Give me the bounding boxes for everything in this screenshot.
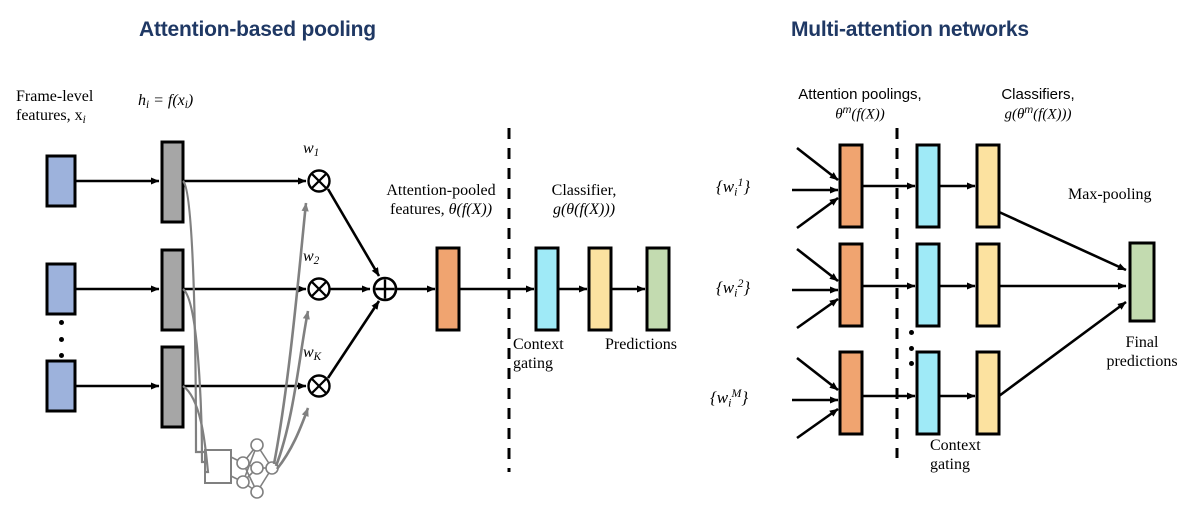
weight-arrows — [274, 203, 308, 469]
input-box-3 — [47, 361, 75, 411]
classifier-box — [589, 248, 611, 330]
attention-pooling-box-1 — [840, 145, 862, 227]
attention-mlp-graph — [205, 439, 278, 498]
input-box-2 — [47, 264, 75, 314]
attention-poolings-label: Attention poolings, θm(f(X)) — [772, 86, 948, 124]
branch-1-to-final-arrow — [999, 212, 1126, 270]
attention-pooling-box-M — [840, 352, 862, 434]
multiply-node-K — [309, 376, 330, 397]
right-vertical-ellipsis — [908, 330, 914, 366]
final-predictions-label: Final predictions — [1092, 334, 1192, 372]
hidden-feature-boxes — [162, 142, 183, 427]
right-context-gating-label: Context gating — [930, 437, 981, 475]
classifier-box-1 — [977, 145, 999, 227]
context-gating-box-2 — [917, 244, 939, 326]
branch-2-group — [792, 244, 1126, 328]
frame-level-features-label: Frame-level features, xi — [16, 88, 93, 127]
hidden-function-label: hi = f(xi) — [138, 92, 193, 112]
weight-label-K: wK — [303, 344, 321, 364]
diagram-root: Attention-based pooling Multi-attention … — [0, 0, 1200, 514]
context-gating-box-1 — [917, 145, 939, 227]
weights-set-label-M: {wiM} — [710, 386, 748, 409]
attention-pooled-features-label: Attention-pooled features, θ(f(X)) — [366, 182, 516, 220]
predictions-box — [647, 248, 669, 330]
hidden-box-1 — [162, 142, 183, 222]
diagram-canvas — [0, 0, 1200, 514]
classifier-box-M — [977, 352, 999, 434]
attention-network-curves — [183, 181, 208, 472]
hidden-box-3 — [162, 347, 183, 427]
input-box-1 — [47, 156, 75, 206]
pooled-features-box — [437, 248, 459, 330]
left-context-gating-label: Context gating — [513, 336, 564, 374]
hidden-box-2 — [162, 250, 183, 330]
weight-label-2: w2 — [303, 248, 319, 268]
sum-node — [374, 278, 396, 300]
classifier-label: Classifier, g(θ(f(X))) — [521, 182, 647, 220]
classifiers-label: Classifiers, g(θm(f(X))) — [953, 86, 1123, 124]
weights-set-label-1: {wi1} — [716, 175, 750, 198]
classifier-box-2 — [977, 244, 999, 326]
final-predictions-box — [1130, 243, 1154, 321]
context-gating-box — [536, 248, 558, 330]
max-pooling-label: Max-pooling — [1068, 186, 1152, 205]
attention-pooling-box-2 — [840, 244, 862, 326]
multiply-node-1 — [309, 171, 330, 192]
input-feature-boxes — [47, 156, 75, 411]
multiply-node-2 — [309, 279, 330, 300]
weight-label-1: w1 — [303, 140, 319, 160]
left-vertical-ellipsis — [58, 320, 64, 358]
hidden-to-multiply-arrows — [183, 181, 306, 386]
predictions-label: Predictions — [605, 336, 677, 355]
context-gating-box-M — [917, 352, 939, 434]
input-to-hidden-arrows — [75, 181, 159, 386]
weights-set-label-2: {wi2} — [716, 276, 750, 299]
